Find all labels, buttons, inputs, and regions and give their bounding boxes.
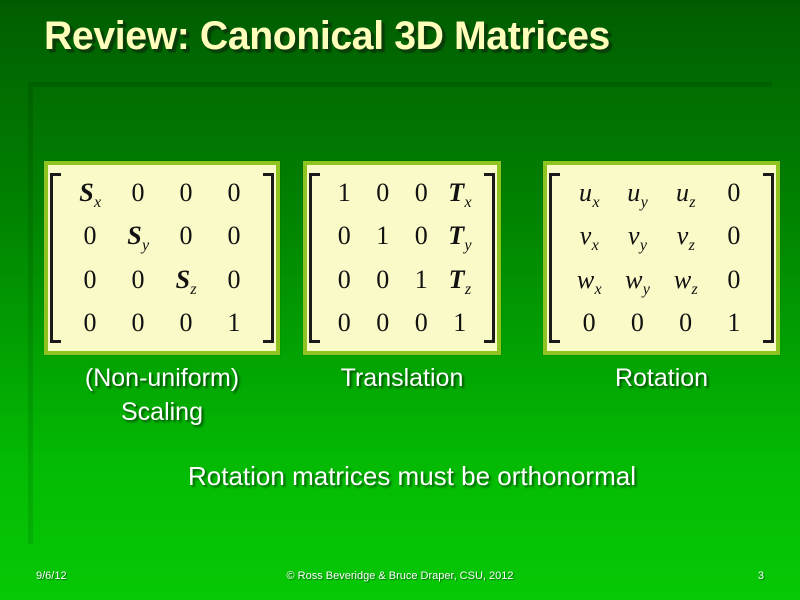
matrix-rotation-cell-r3c4: 0 [710,258,758,302]
matrix-translation-cell-r2c4: Ty [441,215,480,259]
matrix-rotation-cell-r2c2: vy [613,215,661,259]
matrix-cell-value: 0 [727,267,740,293]
matrix-translation-cell-r3c2: 0 [364,258,403,302]
matrix-scaling-cell-r1c2: 0 [114,171,162,215]
matrix-cell-subscript: x [595,281,602,298]
matrix-translation-cell-r4c4: 1 [441,302,480,346]
matrix-scaling-grid: Sx0000Sy0000Sz00001 [64,165,260,351]
right-bracket-icon [262,173,274,343]
matrix-scaling-cell-r2c4: 0 [210,215,258,259]
right-bracket-icon [483,173,495,343]
matrix-translation: 100Tx010Ty001Tz0001 [303,161,501,355]
matrix-cell-symbol: Sx [79,180,101,206]
matrix-translation-cell-r1c1: 1 [325,171,364,215]
footer-credit: © Ross Beveridge & Bruce Draper, CSU, 20… [0,570,800,582]
matrix-cell-subscript: y [643,281,650,298]
caption-scaling-line1: (Non-uniform) [44,364,280,393]
caption-translation: Translation [303,364,501,393]
matrix-rotation-cell-r1c1: ux [565,171,613,215]
matrix-rotation-cell-r4c2: 0 [613,302,661,346]
matrix-cell-subscript: z [689,194,695,211]
slide-footer: 9/6/12 © Ross Beveridge & Bruce Draper, … [0,566,800,588]
matrix-cell-value: 0 [415,310,428,336]
matrix-cell-value: 0 [631,310,644,336]
matrix-scaling-cell-r2c3: 0 [162,215,210,259]
matrix-scaling-cell-r3c1: 0 [66,258,114,302]
matrix-cell-symbol: Sz [176,267,197,293]
matrix-cell-value: 0 [84,223,97,249]
matrix-cell-subscript: z [465,281,471,298]
matrix-cell-value: 0 [583,310,596,336]
matrix-cell-subscript: x [464,194,471,211]
matrix-scaling-cell-r3c3: Sz [162,258,210,302]
matrix-cell-symbol: Tx [448,180,471,206]
matrix-rotation-grid: uxuyuz0vxvyvz0wxwywz00001 [563,165,760,351]
matrix-rotation-cell-r2c1: vx [565,215,613,259]
matrix-rotation-inner: uxuyuz0vxvyvz0wxwywz00001 [547,165,776,351]
matrix-cell-value: 0 [727,223,740,249]
matrix-cell-value: 0 [338,267,351,293]
page-title: Review: Canonical 3D Matrices [44,14,610,59]
matrix-cell-value: 1 [727,310,740,336]
matrix-scaling-cell-r4c1: 0 [66,302,114,346]
caption-rotation: Rotation [543,364,780,393]
note-orthonormal: Rotation matrices must be orthonormal [0,461,800,492]
matrix-scaling-cell-r2c2: Sy [114,215,162,259]
matrix-cell-value: 0 [180,180,193,206]
matrix-rotation-cell-r1c4: 0 [710,171,758,215]
matrix-cell-value: 0 [376,267,389,293]
matrix-cell-value: 0 [132,180,145,206]
matrix-cell-value: 0 [415,180,428,206]
matrix-cell-value: 1 [453,310,466,336]
left-bracket-icon [549,173,561,343]
matrix-cell-value: 0 [338,223,351,249]
matrix-cell-value: 1 [228,310,241,336]
matrix-rotation-cell-r1c2: uy [613,171,661,215]
matrix-cell-symbol: ux [579,180,599,206]
matrix-translation-cell-r2c3: 0 [402,215,441,259]
matrix-cell-value: 0 [180,310,193,336]
matrix-cell-value: 0 [132,310,145,336]
matrix-scaling-inner: Sx0000Sy0000Sz00001 [48,165,276,351]
matrix-cell-value: 0 [376,310,389,336]
left-bracket-icon [309,173,321,343]
matrix-rotation-cell-r4c1: 0 [565,302,613,346]
matrix-cell-subscript: y [640,237,647,254]
matrix-scaling-cell-r1c3: 0 [162,171,210,215]
matrix-cell-value: 0 [180,223,193,249]
matrix-rotation: uxuyuz0vxvyvz0wxwywz00001 [543,161,780,355]
matrix-cell-value: 1 [338,180,351,206]
left-bracket-icon [50,173,62,343]
matrix-cell-subscript: y [464,237,471,254]
matrix-translation-cell-r4c2: 0 [364,302,403,346]
matrix-cell-value: 0 [228,223,241,249]
matrix-cell-subscript: y [142,237,149,254]
matrix-translation-cell-r3c4: Tz [441,258,480,302]
matrix-rotation-cell-r4c4: 1 [710,302,758,346]
matrix-cell-symbol: Tz [449,267,471,293]
matrix-translation-grid: 100Tx010Ty001Tz0001 [323,165,481,351]
matrix-cell-symbol: uy [627,180,647,206]
matrix-rotation-cell-r3c1: wx [565,258,613,302]
matrix-translation-cell-r2c2: 1 [364,215,403,259]
matrix-cell-value: 0 [84,310,97,336]
matrix-cell-value: 0 [376,180,389,206]
matrix-scaling-cell-r3c4: 0 [210,258,258,302]
matrix-cell-subscript: x [94,194,101,211]
matrix-translation-cell-r2c1: 0 [325,215,364,259]
matrix-rotation-cell-r4c3: 0 [662,302,710,346]
matrix-rotation-cell-r3c2: wy [613,258,661,302]
matrix-translation-cell-r1c3: 0 [402,171,441,215]
matrix-translation-cell-r1c2: 0 [364,171,403,215]
matrix-scaling-cell-r1c1: Sx [66,171,114,215]
matrix-cell-symbol: wx [577,267,602,293]
matrix-scaling-cell-r1c4: 0 [210,171,258,215]
slide-canvas: Review: Canonical 3D Matrices Sx0000Sy00… [0,0,800,600]
matrix-scaling-cell-r2c1: 0 [66,215,114,259]
matrix-cell-subscript: x [592,237,599,254]
matrix-cell-subscript: z [691,281,697,298]
matrix-rotation-cell-r3c3: wz [662,258,710,302]
matrix-scaling-cell-r3c2: 0 [114,258,162,302]
matrix-rotation-cell-r1c3: uz [662,171,710,215]
matrix-translation-cell-r4c1: 0 [325,302,364,346]
matrix-rotation-cell-r2c4: 0 [710,215,758,259]
matrix-cell-subscript: z [190,281,196,298]
matrix-scaling-cell-r4c3: 0 [162,302,210,346]
matrix-cell-value: 0 [228,267,241,293]
matrix-cell-value: 0 [679,310,692,336]
matrix-cell-symbol: uz [676,180,695,206]
matrix-cell-symbol: vy [628,223,647,249]
matrix-scaling-cell-r4c2: 0 [114,302,162,346]
matrix-cell-symbol: Ty [448,223,471,249]
matrix-cell-value: 1 [376,223,389,249]
matrix-cell-value: 0 [727,180,740,206]
matrix-cell-value: 0 [338,310,351,336]
caption-scaling-line2: Scaling [44,398,280,427]
matrix-cell-value: 1 [415,267,428,293]
matrix-cell-symbol: wy [625,267,650,293]
matrix-cell-symbol: Sy [127,223,149,249]
footer-page-number: 3 [758,570,764,582]
right-bracket-icon [762,173,774,343]
matrix-cell-symbol: vz [677,223,695,249]
matrix-scaling-cell-r4c4: 1 [210,302,258,346]
matrix-cell-subscript: x [592,194,599,211]
matrix-cell-symbol: wz [674,267,698,293]
matrix-cell-value: 0 [228,180,241,206]
matrix-translation-cell-r1c4: Tx [441,171,480,215]
matrix-translation-cell-r4c3: 0 [402,302,441,346]
matrix-translation-cell-r3c1: 0 [325,258,364,302]
matrix-rotation-cell-r2c3: vz [662,215,710,259]
matrix-cell-symbol: vx [580,223,599,249]
matrix-cell-value: 0 [132,267,145,293]
matrix-translation-inner: 100Tx010Ty001Tz0001 [307,165,497,351]
matrix-cell-value: 0 [415,223,428,249]
matrix-cell-subscript: y [641,194,648,211]
matrix-translation-cell-r3c3: 1 [402,258,441,302]
matrix-cell-subscript: z [689,237,695,254]
matrix-cell-value: 0 [84,267,97,293]
matrix-scaling: Sx0000Sy0000Sz00001 [44,161,280,355]
title-bar: Review: Canonical 3D Matrices [0,14,800,76]
